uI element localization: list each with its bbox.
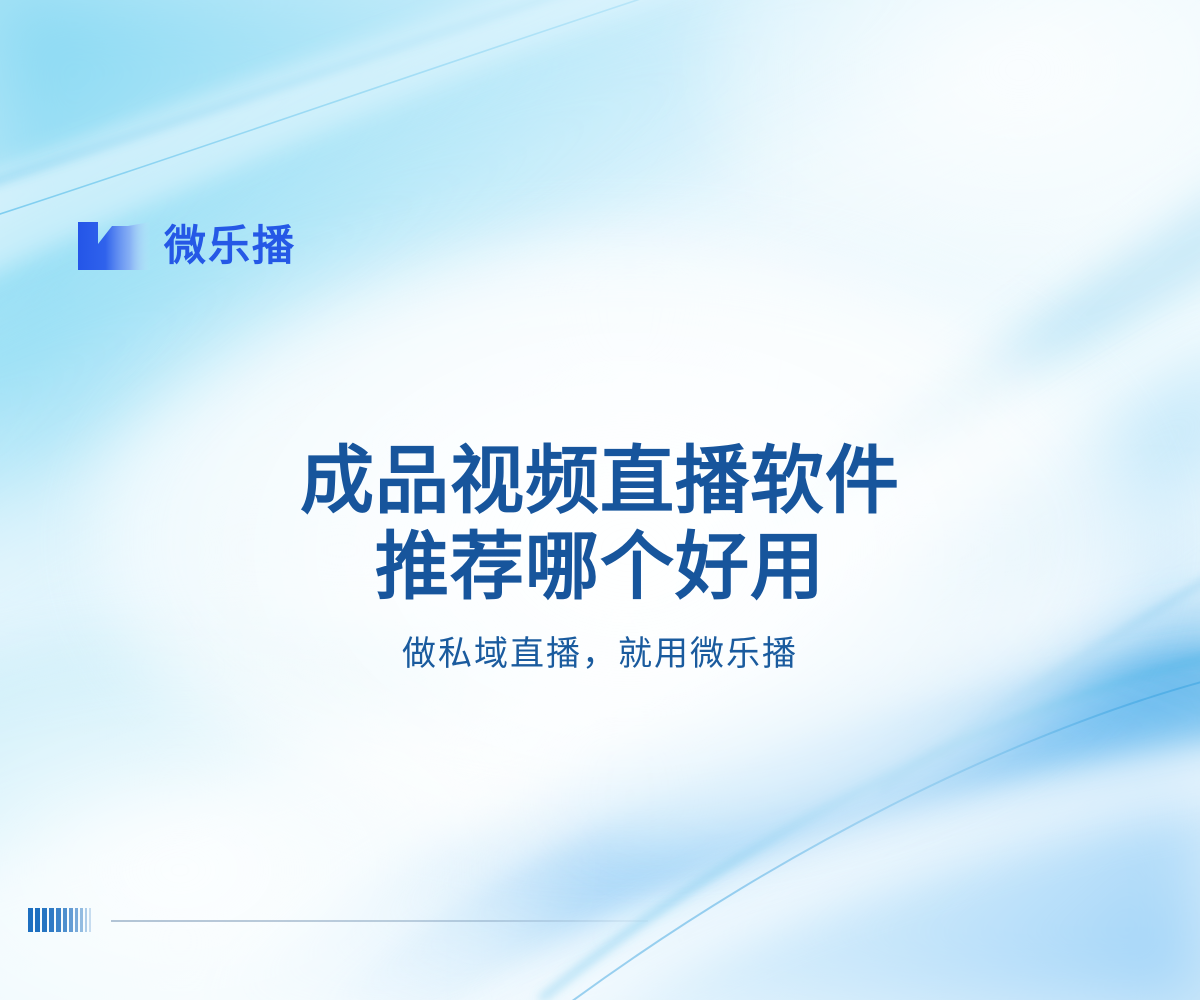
weilebo-chevron-mark-icon — [78, 222, 150, 270]
poster-canvas: 微乐播 成品视频直播软件 推荐哪个好用 做私域直播，就用微乐播 — [0, 0, 1200, 1000]
decoration-bar — [85, 908, 87, 932]
decoration-bar — [75, 908, 78, 932]
decoration-bar — [49, 908, 54, 932]
decoration-bar — [28, 908, 33, 932]
decoration-bar — [42, 908, 47, 932]
brand-logo-lockup[interactable]: 微乐播 — [78, 222, 296, 270]
headline-block: 成品视频直播软件 推荐哪个好用 — [0, 438, 1200, 610]
subheadline-text: 做私域直播，就用微乐播 — [0, 632, 1200, 676]
horizontal-rule — [111, 920, 648, 922]
decoration-bar — [56, 908, 61, 932]
headline-line-1: 成品视频直播软件 — [0, 438, 1200, 524]
decoration-bar — [89, 908, 91, 932]
headline-line-2: 推荐哪个好用 — [0, 524, 1200, 610]
decoration-bar — [80, 908, 83, 932]
barcode-bar-group — [28, 908, 91, 934]
bottom-decoration — [28, 906, 648, 936]
decoration-bar — [69, 908, 73, 932]
brand-wordmark: 微乐播 — [164, 225, 296, 267]
decoration-bar — [35, 908, 40, 932]
decoration-bar — [63, 908, 67, 932]
